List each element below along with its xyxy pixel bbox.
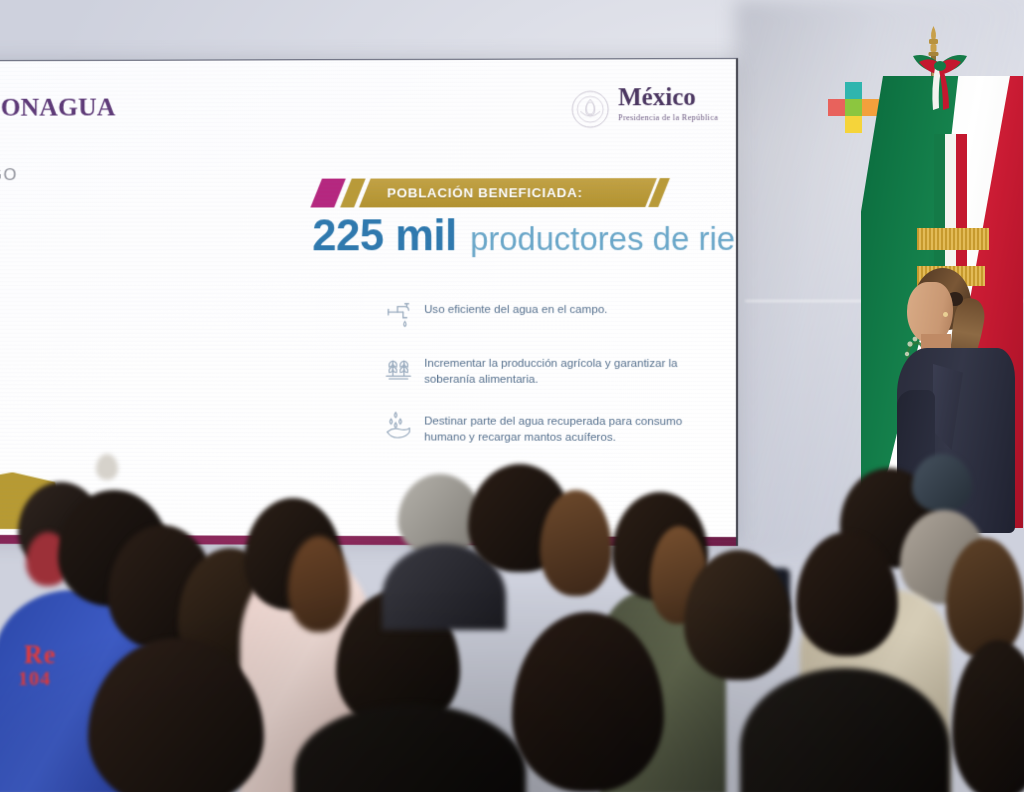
hand-water-icon bbox=[384, 408, 414, 442]
faucet-icon bbox=[384, 297, 414, 331]
brand-lockup: México Presidencia de la República bbox=[570, 85, 736, 135]
national-seal-icon bbox=[570, 89, 610, 129]
speaker-earring bbox=[943, 312, 948, 317]
headline-value: 225 mil bbox=[312, 211, 456, 260]
bullet-item: Incrementar la producción agrícola y gar… bbox=[384, 351, 712, 389]
population-banner: POBLACIÓN BENEFICIADA: bbox=[310, 178, 660, 207]
banner-label: POBLACIÓN BENEFICIADA: bbox=[310, 178, 660, 207]
flag-bow-ribbon-icon bbox=[907, 48, 973, 118]
crops-icon bbox=[384, 351, 414, 385]
slide-title: ación SADER-CONAGUA bbox=[0, 93, 115, 123]
brand-name: México bbox=[618, 85, 718, 110]
bullet-text: Incrementar la producción agrícola y gar… bbox=[424, 351, 712, 389]
brand-subtitle: Presidencia de la República bbox=[618, 113, 718, 122]
seated-audience: Re 104 bbox=[0, 440, 1024, 792]
bullet-item: Uso eficiente del agua en el campo. bbox=[384, 297, 712, 331]
headline-stat: 225 mil productores de riego bbox=[312, 214, 736, 258]
bullet-text: Uso eficiente del agua en el campo. bbox=[424, 297, 607, 318]
audience-vignette bbox=[0, 440, 1024, 792]
square-left bbox=[828, 99, 845, 116]
flag-fringe-upper bbox=[917, 228, 989, 250]
slide-subtitle: ECTÁREAS DE RIEGO bbox=[0, 165, 18, 185]
headline-unit: productores de riego bbox=[470, 220, 736, 257]
flag-ribbon-sash bbox=[931, 134, 971, 284]
